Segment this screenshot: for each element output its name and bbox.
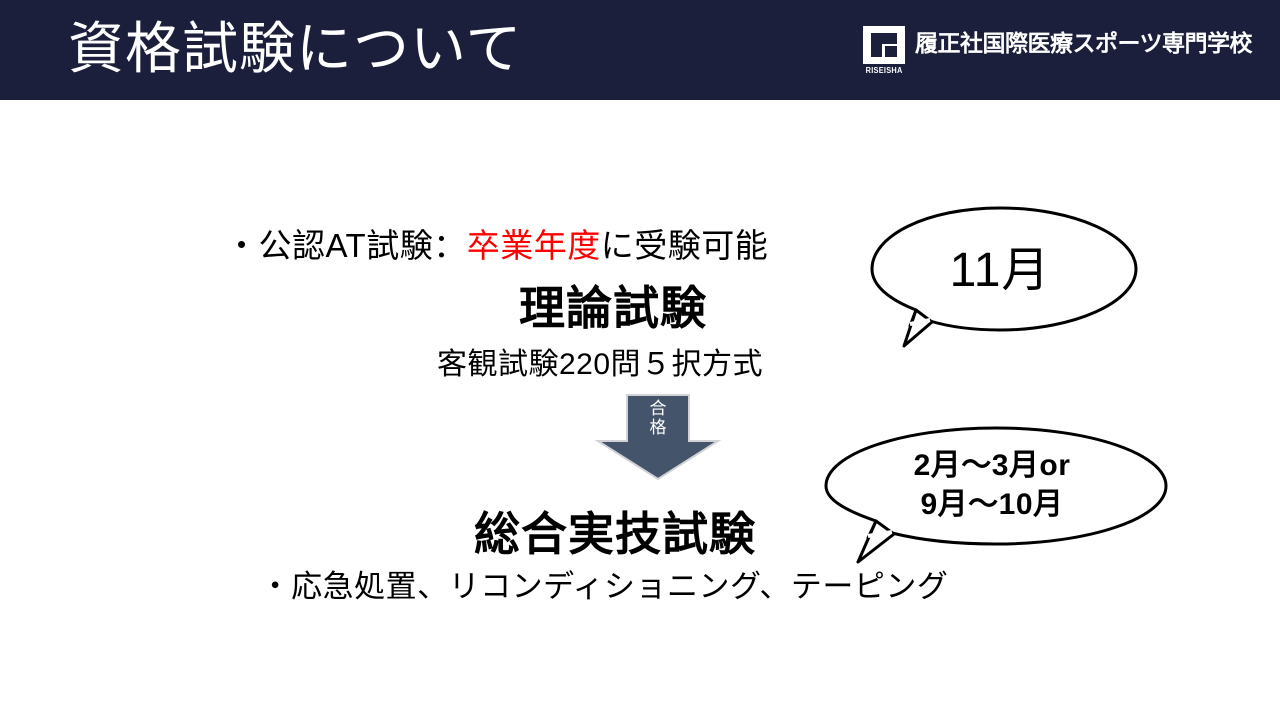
pass-arrow-label-line2: 格: [592, 418, 724, 437]
at-exam-prefix-text: ・公認AT試験：: [225, 227, 467, 264]
theory-exam-month-callout: 11月: [864, 206, 1150, 351]
school-logo-block: RISEISHA 履正社国際医療スポーツ専門学校: [862, 26, 1252, 78]
at-exam-eligibility-line: ・公認AT試験：卒業年度に受験可能: [225, 224, 768, 268]
practical-exam-month-text: 2月～3月or 9月～10月: [818, 446, 1166, 524]
pass-down-arrow: 合 格: [592, 391, 724, 483]
pass-arrow-label: 合 格: [592, 399, 724, 437]
theory-exam-description: 客観試験220問５択方式: [0, 345, 1240, 385]
logo-wordmark-romaji: RISEISHA: [866, 66, 903, 75]
pass-arrow-label-line1: 合: [592, 399, 724, 418]
slide-header-bar: 資格試験について RISEISHA 履正社国際医療スポーツ専門学校: [0, 0, 1280, 100]
practical-exam-description: ・応急処置、リコンディショニング、テーピング: [0, 566, 1244, 608]
practical-exam-month-line1: 2月～3月or: [818, 446, 1166, 485]
logo-glyph-square: [885, 46, 897, 57]
at-exam-suffix-text: に受験可能: [601, 227, 769, 264]
school-name-text: 履正社国際医療スポーツ専門学校: [915, 28, 1252, 58]
logo-mark-wrap: RISEISHA: [862, 26, 906, 75]
at-exam-highlight-text: 卒業年度: [467, 227, 601, 264]
page-title: 資格試験について: [68, 6, 522, 92]
logo-glyph-horizontal-bar: [871, 33, 897, 44]
riseisha-logo-mark-icon: [863, 26, 905, 64]
theory-exam-month-text: 11月: [864, 242, 1136, 300]
practical-exam-month-line2: 9月～10月: [818, 485, 1166, 524]
slide-body: ・公認AT試験：卒業年度に受験可能 理論試験 客観試験220問５択方式 合 格 …: [0, 100, 1280, 720]
practical-exam-month-callout: 2月～3月or 9月～10月: [818, 426, 1180, 571]
